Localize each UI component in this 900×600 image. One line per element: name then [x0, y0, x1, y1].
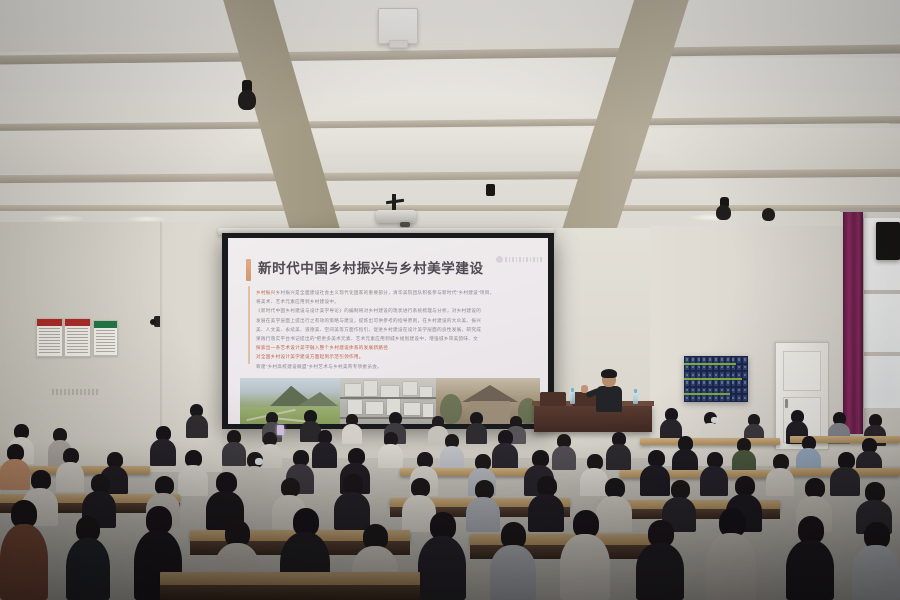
presenter-body	[596, 386, 622, 412]
ceiling-spotlight-head	[716, 205, 731, 220]
audience-member	[606, 432, 631, 470]
ceiling-ac-unit	[378, 8, 418, 44]
audience-member	[150, 426, 176, 466]
curtain-rod	[840, 208, 900, 212]
ceiling-light	[40, 215, 84, 222]
presenter-hand	[581, 385, 588, 393]
presentation-slide: 新时代中国乡村振兴与乡村美学建设 乡村振兴乡村振兴是全面建设社会主义现代化国家的…	[228, 238, 548, 424]
wall-speaker	[876, 222, 900, 260]
slide-body-accent-line	[248, 286, 250, 364]
window-curtain[interactable]	[843, 212, 863, 434]
ceiling	[0, 0, 900, 232]
poster-header	[37, 319, 62, 326]
university-logo-watermark	[496, 256, 542, 263]
student-desk-front	[160, 585, 420, 600]
slide-text-line: 对全国乡村设计美学建设方面起到示范引领作用。	[256, 352, 534, 361]
ceiling-sensor	[486, 184, 495, 196]
audience-member	[66, 516, 110, 600]
audience-member	[852, 522, 900, 600]
slide-text-highlight: 乡村振兴	[256, 290, 276, 295]
wall-display-grid-accent	[684, 378, 742, 380]
presenter-table	[534, 404, 652, 432]
audience-member	[552, 434, 576, 470]
poster-text-lines	[94, 328, 117, 356]
audience-member	[178, 450, 208, 496]
door-panel	[783, 351, 821, 391]
slide-text-highlight: 对全国乡村设计美学建设方面起到示范引领作用。	[256, 354, 364, 359]
student-desk	[160, 572, 420, 586]
audience-member	[334, 474, 370, 530]
audience-member	[560, 510, 610, 600]
student-desk	[640, 438, 780, 445]
audience-member	[466, 412, 487, 444]
slide-text-line: 筹建“乡村高校建设联盟”乡村艺术与乡村美育专项委员会。	[256, 362, 534, 371]
notice-poster-red-1	[36, 318, 63, 357]
window-frame	[862, 352, 900, 356]
slide-text-rest: 乡村振兴是全面建设社会主义现代化国家的重要部分，清华美院团队积极参与新时代“乡村…	[276, 290, 495, 295]
ceiling-spotlight-head	[762, 208, 775, 221]
slide-title-accent-bar	[246, 259, 251, 281]
audience-member	[312, 430, 337, 468]
slide-text-highlight: 探索出一条艺术设计美学融入整个乡村建设体系的发展新路径	[256, 345, 388, 350]
slide-photo-village-landscape	[240, 378, 340, 424]
audience-member	[240, 452, 268, 496]
poster-header	[65, 319, 90, 326]
audience-member	[700, 452, 728, 496]
slide-text-line: 发展在美学层面上提出行之有效的策略与建议，提炼出可供参考的指导原则，在乡村建设的…	[256, 316, 534, 325]
audience-member	[766, 454, 794, 496]
ceiling-projector	[376, 210, 416, 223]
lecture-hall-photo: 新时代中国乡村振兴与乡村美学建设 乡村振兴乡村振兴是全面建设社会主义现代化国家的…	[0, 0, 900, 600]
slide-body-text: 乡村振兴乡村振兴是全面建设社会主义现代化国家的重要部分，清华美院团队积极参与新时…	[256, 288, 534, 371]
slide-title: 新时代中国乡村振兴与乡村美学建设	[258, 257, 484, 281]
wall-display-grid-accent	[684, 363, 736, 365]
poster-text-lines	[37, 326, 62, 357]
wall-display-grid-accent	[684, 393, 730, 395]
window-frame	[862, 290, 900, 294]
slide-text-line: 将美术、艺术元素应用到乡村建设中。	[256, 297, 534, 306]
water-bottle	[633, 392, 638, 404]
projection-screen: 新时代中国乡村振兴与乡村美学建设 乡村振兴乡村振兴是全面建设社会主义现代化国家的…	[222, 233, 554, 429]
audience-member	[732, 438, 756, 474]
audience-member	[636, 520, 684, 600]
ceiling-spotlight-head	[238, 90, 256, 110]
ceiling-ac-unit	[389, 40, 408, 48]
door-handle[interactable]	[785, 399, 788, 408]
audience-member	[418, 512, 466, 600]
slide-text-line: 乡村振兴乡村振兴是全面建设社会主义现代化国家的重要部分，清华美院团队积极参与新时…	[256, 288, 534, 297]
slide-text-line: 《新时代中国乡村建设与设计美学导论》的编制将对乡村建设的现状进行系统梳理与分析，…	[256, 306, 534, 315]
projector-lens	[400, 222, 410, 227]
poster-header	[94, 321, 117, 328]
slide-text-line: 美、人文美、永续美、道德美、空间美等方面作指引，促进乡村建设在设计美学层面的良性…	[256, 325, 534, 334]
notice-poster-green	[93, 320, 118, 356]
poster-text-lines	[65, 326, 90, 357]
smartphone[interactable]	[277, 425, 284, 435]
notice-poster-red-2	[64, 318, 91, 357]
audience-member	[56, 448, 84, 492]
audience-member	[342, 414, 362, 444]
wall-plaque	[52, 382, 100, 400]
audience-member	[378, 432, 403, 468]
audience-member	[0, 500, 48, 600]
audience-member	[186, 404, 208, 438]
audience-member	[786, 516, 834, 600]
audience-member	[706, 508, 756, 600]
slide-text-line: 果践行落实平台书记提出的“把更多美术元素、艺术元素应用到城乡规划建设中，增强城乡…	[256, 334, 534, 343]
water-bottle	[570, 391, 575, 404]
audience-member	[440, 434, 464, 470]
presenter-chair	[540, 392, 566, 406]
audience-member	[490, 522, 536, 600]
slide-text-line: 探索出一条艺术设计美学融入整个乡村建设体系的发展新路径	[256, 343, 534, 352]
presenter-hair	[601, 369, 617, 378]
